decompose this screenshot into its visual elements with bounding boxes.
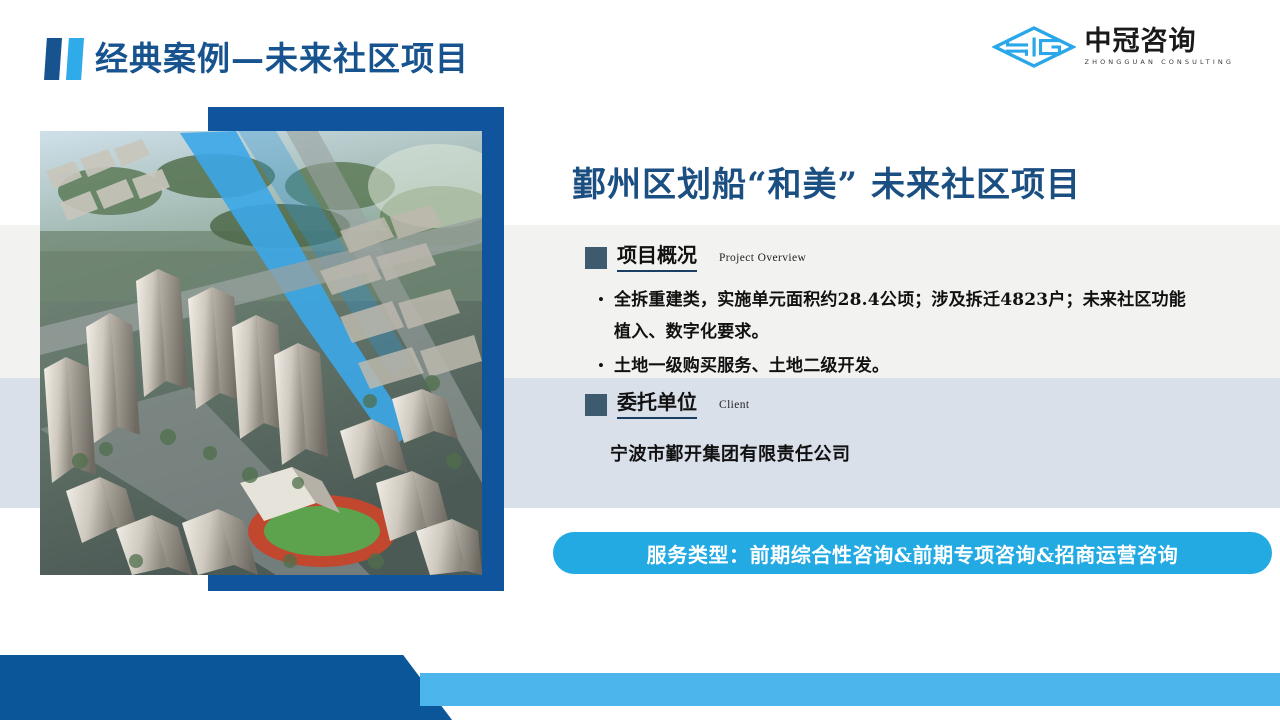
footer-dark-shape-decoration [0,655,452,720]
service-type-text: 服务类型：前期综合性咨询&前期专项咨询&招商运营咨询 [647,539,1179,568]
section-heading-overview: 项目概况 Project Overview [585,243,806,272]
zg-hexagon-logo-icon [992,26,1076,68]
header-accent-light-icon [66,38,84,80]
project-photo [40,131,482,575]
section-marker-square-icon [585,394,607,416]
project-title: 鄞州区划船“和美” 未来社区项目 [572,157,1081,206]
section-label-cn: 委托单位 [617,390,697,419]
brand-logo: 中冠咨询 ZHONGGUAN CONSULTING [992,26,1234,68]
slide-canvas: 经典案例—未来社区项目 中冠咨询 ZHONGGUAN CONSULTING [0,0,1280,720]
section-label-cn: 项目概况 [617,243,697,272]
list-item: • 全拆重建类，实施单元面积约28.4公顷；涉及拆迁4823户；未来社区功能植入… [588,284,1188,348]
overview-bullet-list: • 全拆重建类，实施单元面积约28.4公顷；涉及拆迁4823户；未来社区功能植入… [588,284,1188,384]
bullet-marker-icon: • [588,284,614,316]
logo-name-en: ZHONGGUAN CONSULTING [1085,59,1234,66]
page-title: 经典案例—未来社区项目 [95,36,469,82]
bullet-text: 全拆重建类，实施单元面积约28.4公顷；涉及拆迁4823户；未来社区功能植入、数… [614,284,1188,348]
bullet-marker-icon: • [588,350,614,382]
footer-light-bar-decoration [420,673,1280,706]
section-marker-square-icon [585,247,607,269]
section-label-en: Project Overview [719,252,806,264]
bullet-text: 土地一级购买服务、土地二级开发。 [614,350,889,382]
service-type-banner: 服务类型：前期综合性咨询&前期专项咨询&招商运营咨询 [553,532,1272,574]
logo-name-cn: 中冠咨询 [1085,28,1234,55]
client-name-value: 宁波市鄞开集团有限责任公司 [610,440,851,466]
aerial-rendering-illustration [40,131,482,575]
section-heading-client: 委托单位 Client [585,390,750,419]
list-item: • 土地一级购买服务、土地二级开发。 [588,350,1188,382]
header-accent-dark-icon [44,38,62,80]
section-label-en: Client [719,399,750,411]
